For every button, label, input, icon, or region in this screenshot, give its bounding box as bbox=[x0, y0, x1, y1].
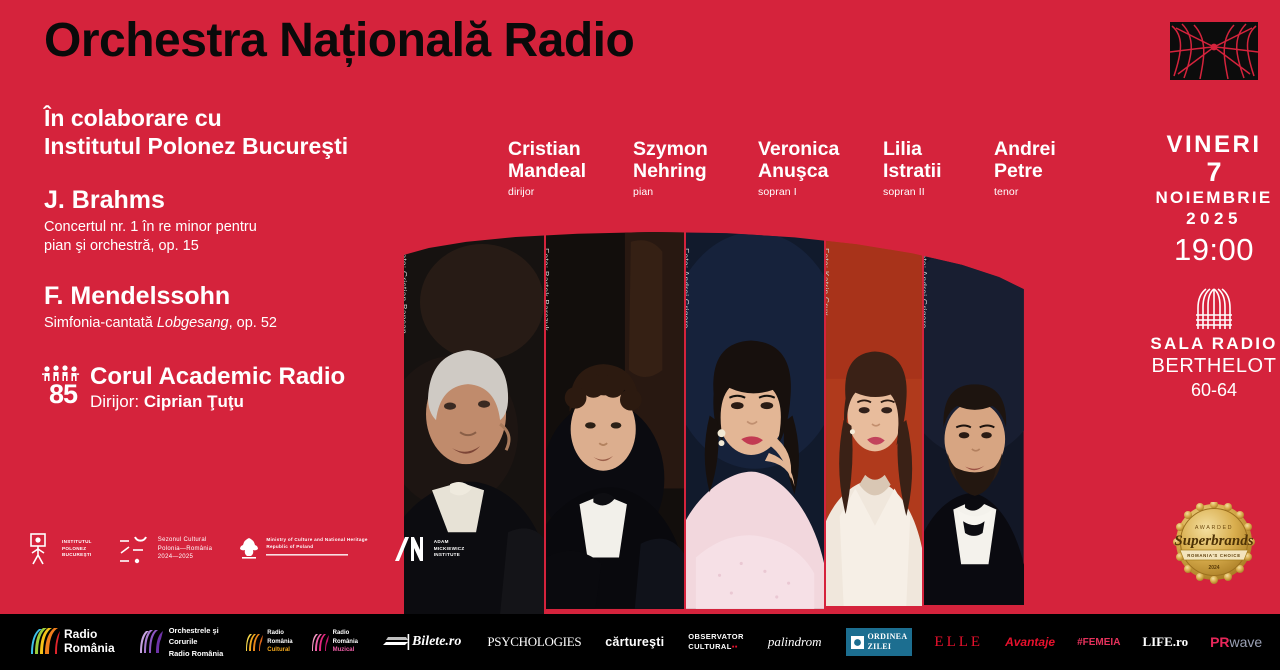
sponsor-label: #FEMEIA bbox=[1077, 637, 1120, 648]
performer-role: sopran II bbox=[883, 186, 994, 198]
photo-panel-petre: Foto: Andrei Grigore bbox=[922, 232, 1024, 614]
radio-romania-icon bbox=[30, 627, 60, 657]
sponsor-label: PSYCHOLOGIES bbox=[487, 634, 581, 650]
performer-petre: Andrei Petre tenor bbox=[994, 139, 1119, 198]
photo-credit: Foto: Bartek Barczyk bbox=[544, 248, 551, 331]
sponsor-label: Radio România Cultural bbox=[267, 629, 292, 655]
superbrands-award-badge: AWARDED Superbrands ROMANIA'S CHOICE 202… bbox=[1172, 502, 1256, 586]
collaboration-block: În colaborare cu Institutul Polonez Bucu… bbox=[44, 104, 348, 160]
sponsor-prwave[interactable]: PRwave bbox=[1210, 634, 1262, 650]
sponsor-palindrom[interactable]: palindrom bbox=[768, 634, 822, 650]
venue-name: SALA RADIO bbox=[1148, 334, 1280, 354]
collaboration-line-1: În colaborare cu bbox=[44, 104, 348, 132]
performers-list: Cristian Mandeal dirijor Szymon Nehring … bbox=[508, 139, 1119, 198]
sponsor-bar: Radio România Orchestrele şi Corurile Ra… bbox=[0, 614, 1280, 670]
partner-logos-row: INSTITUTUL POLONEZ BUCUREŞTI Sezonul Cul… bbox=[30, 533, 465, 565]
partner-ministry-of-culture-poland: Ministry of Culture and National Heritag… bbox=[238, 536, 367, 562]
sponsor-radio-romania-cultural[interactable]: Radio România Cultural bbox=[245, 629, 292, 655]
sponsor-radio-romania-muzical[interactable]: Radio România Muzical bbox=[311, 629, 358, 655]
photo-credit: Foto: Katrin Crux bbox=[824, 248, 831, 316]
event-date-block: VINERI 7 NOIEMBRIE 2025 19:00 bbox=[1148, 132, 1280, 268]
sezonul-cultural-icon bbox=[118, 534, 152, 564]
work-title: Concertul nr. 1 în re minor pentru pian … bbox=[44, 218, 394, 256]
svg-text:2024: 2024 bbox=[1208, 565, 1219, 571]
partner-label: ADAM MICKIEWICZ INSTITUTE bbox=[434, 539, 465, 560]
institutul-polonez-icon bbox=[30, 533, 56, 565]
performer-mandeal: Cristian Mandeal dirijor bbox=[508, 139, 633, 198]
sala-radio-logo-icon bbox=[1148, 288, 1280, 330]
sponsor-radio-romania[interactable]: Radio România bbox=[30, 627, 115, 657]
sponsor-label: Avantaje bbox=[1005, 635, 1055, 649]
venue-block: SALA RADIO BERTHELOT 60-64 bbox=[1148, 288, 1280, 402]
event-time: 19:00 bbox=[1148, 231, 1280, 268]
event-day: 7 bbox=[1148, 158, 1280, 186]
program-item-mendelssohn: F. Mendelssohn Simfonia-cantată Lobgesan… bbox=[44, 282, 394, 333]
sponsor-label: Radio România bbox=[64, 628, 115, 656]
orchestrele-corurile-icon bbox=[139, 629, 165, 655]
sponsor-label: Orchestrele şi Corurile Radio România bbox=[169, 625, 224, 659]
program-item-brahms: J. Brahms Concertul nr. 1 în re minor pe… bbox=[44, 186, 394, 256]
sponsor-label: LIFE.ro bbox=[1142, 634, 1188, 650]
photo-credit: Foto: Cristian Bancan bbox=[404, 248, 409, 334]
performer-nehring: Szymon Nehring pian bbox=[633, 139, 758, 198]
photo-panel-istratii: Foto: Katrin Crux bbox=[824, 232, 922, 614]
photo-panel-anusca: Foto: Andrei Grigore bbox=[684, 232, 824, 614]
chorus-85-anniversary-icon: 85 bbox=[40, 364, 86, 408]
sponsor-label: cărtureşti bbox=[605, 635, 664, 649]
sponsor-femeia[interactable]: #FEMEIA bbox=[1077, 637, 1120, 648]
partner-adam-mickiewicz-institute: ADAM MICKIEWICZ INSTITUTE bbox=[394, 536, 465, 562]
photo-credit: Foto: Andrei Grigore bbox=[684, 248, 691, 329]
performer-anusca: Veronica Anuşca sopran I bbox=[758, 139, 883, 198]
sponsor-psychologies[interactable]: PSYCHOLOGIES bbox=[487, 634, 581, 650]
chorus-anniversary-number: 85 bbox=[40, 382, 86, 408]
sponsor-bilete-ro[interactable]: Bilete.ro bbox=[382, 634, 461, 650]
performer-photo-strip: Foto: Cristian Bancan bbox=[404, 232, 1024, 614]
chorus-name: Corul Academic Radio bbox=[90, 364, 345, 390]
concert-poster: Orchestra Națională Radio În colaborare … bbox=[0, 0, 1280, 670]
sponsor-ordinea-zilei[interactable]: ORDINEA ZILEI bbox=[846, 628, 913, 656]
performer-role: pian bbox=[633, 186, 758, 198]
bilete-ticket-icon bbox=[382, 634, 410, 650]
chorus-block: 85 Corul Academic Radio Dirijor: Ciprian… bbox=[40, 364, 345, 413]
sponsor-label: ELLE bbox=[934, 634, 983, 651]
photo-credit: Foto: Andrei Grigore bbox=[922, 248, 929, 329]
page-title: Orchestra Națională Radio bbox=[44, 16, 634, 66]
sponsor-label: Bilete.ro bbox=[412, 634, 461, 650]
polish-eagle-icon bbox=[238, 536, 260, 562]
partner-label: Ministry of Culture and National Heritag… bbox=[266, 537, 367, 561]
radio-romania-cultural-icon bbox=[245, 633, 264, 652]
partner-label: Sezonul Cultural Polonia—România 2024—20… bbox=[158, 536, 213, 562]
composer-name: F. Mendelssohn bbox=[44, 282, 394, 311]
event-month: NOIEMBRIE bbox=[1148, 187, 1280, 208]
photo-panel-nehring: Foto: Bartek Barczyk bbox=[544, 232, 684, 614]
sponsor-label: OBSERVATOR CULTURAL▪▪ bbox=[688, 632, 744, 652]
event-weekday: VINERI bbox=[1148, 132, 1280, 158]
composer-name: J. Brahms bbox=[44, 186, 394, 215]
sponsor-orchestrele-corurile[interactable]: Orchestrele şi Corurile Radio România bbox=[139, 625, 224, 659]
sponsor-label: Radio România Muzical bbox=[333, 629, 358, 655]
work-title: Simfonia-cantată Lobgesang, op. 52 bbox=[44, 314, 394, 333]
performer-role: tenor bbox=[994, 186, 1119, 198]
svg-text:ROMANIA'S CHOICE: ROMANIA'S CHOICE bbox=[1187, 553, 1241, 558]
sponsor-label: ORDINEA ZILEI bbox=[868, 632, 908, 652]
collaboration-line-2: Institutul Polonez Bucureşti bbox=[44, 132, 348, 160]
venue-number: 60-64 bbox=[1148, 379, 1280, 402]
chorus-conductor: Dirijor: Ciprian Ţuţu bbox=[90, 391, 345, 412]
event-year: 2025 bbox=[1148, 208, 1280, 230]
ordinea-zilei-icon bbox=[851, 636, 864, 649]
svg-text:AWARDED: AWARDED bbox=[1195, 525, 1233, 531]
partner-sezonul-cultural: Sezonul Cultural Polonia—România 2024—20… bbox=[118, 534, 213, 564]
sponsor-observator-cultural[interactable]: OBSERVATOR CULTURAL▪▪ bbox=[688, 632, 744, 652]
onr-wave-logo-icon bbox=[1170, 22, 1258, 80]
svg-text:Superbrands: Superbrands bbox=[1174, 533, 1253, 549]
sponsor-label: PRwave bbox=[1210, 634, 1262, 650]
adam-mickiewicz-icon bbox=[394, 536, 428, 562]
radio-romania-muzical-icon bbox=[311, 633, 330, 652]
sponsor-label: palindrom bbox=[768, 634, 822, 650]
performer-role: dirijor bbox=[508, 186, 633, 198]
sponsor-elle[interactable]: ELLE bbox=[934, 634, 983, 651]
venue-street: BERTHELOT bbox=[1148, 354, 1280, 379]
sponsor-carturesti[interactable]: cărtureşti bbox=[605, 635, 664, 649]
sponsor-life-ro[interactable]: LIFE.ro bbox=[1142, 634, 1188, 650]
sponsor-avantaje[interactable]: Avantaje bbox=[1005, 635, 1055, 649]
performer-istratii: Lilia Istratii sopran II bbox=[883, 139, 994, 198]
performer-role: sopran I bbox=[758, 186, 883, 198]
partner-institutul-polonez-bucuresti: INSTITUTUL POLONEZ BUCUREŞTI bbox=[30, 533, 92, 565]
partner-label: INSTITUTUL POLONEZ BUCUREŞTI bbox=[62, 539, 92, 560]
